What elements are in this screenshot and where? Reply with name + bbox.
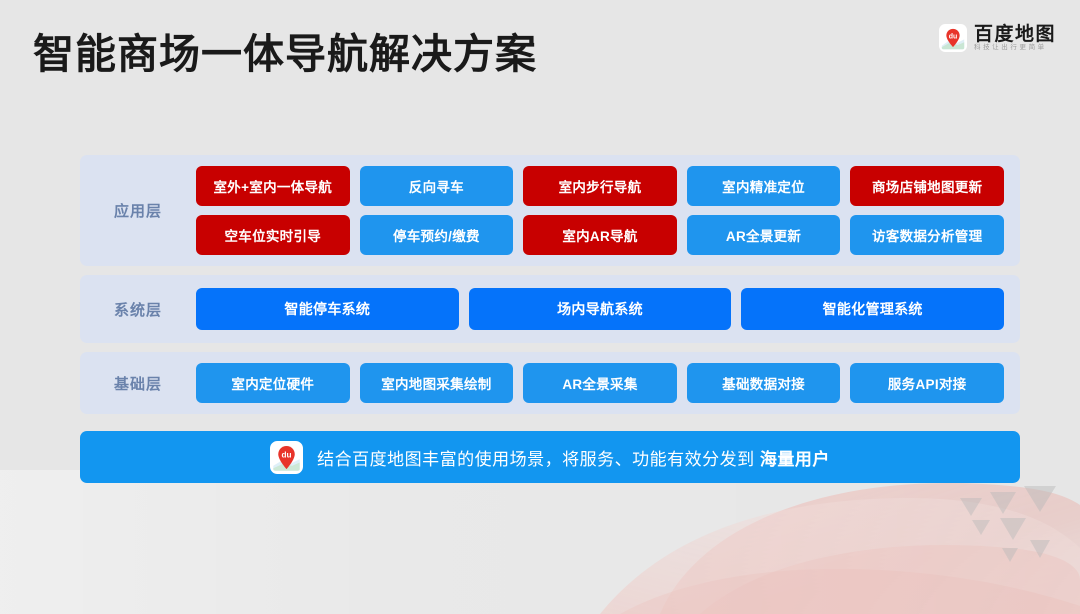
layer-panel-system: 系统层 智能停车系统 场内导航系统 智能化管理系统 [80, 275, 1020, 343]
baidu-map-pin-icon: du [939, 24, 967, 52]
page-header: 智能商场一体导航解决方案 du 百度地图 科技让出行更简单 [0, 0, 1080, 104]
capability-cell[interactable]: 停车预约/缴费 [360, 215, 514, 255]
capability-cell[interactable]: 室外+室内一体导航 [196, 166, 350, 206]
architecture-diagram: 应用层 室外+室内一体导航 反向寻车 室内步行导航 室内精准定位 商场店铺地图更… [80, 155, 1020, 423]
cell-row: 室内定位硬件 室内地图采集绘制 AR全景采集 基础数据对接 服务API对接 [196, 363, 1004, 403]
svg-text:du: du [949, 33, 958, 40]
baidu-map-app-icon: du [270, 441, 303, 474]
system-cell[interactable]: 场内导航系统 [469, 288, 732, 330]
capability-cell[interactable]: AR全景更新 [687, 215, 841, 255]
capability-cell[interactable]: 访客数据分析管理 [850, 215, 1004, 255]
system-cell[interactable]: 智能停车系统 [196, 288, 459, 330]
cell-row: 空车位实时引导 停车预约/缴费 室内AR导航 AR全景更新 访客数据分析管理 [196, 215, 1004, 255]
layer-label-system: 系统层 [80, 299, 196, 320]
foundation-cell[interactable]: 室内定位硬件 [196, 363, 350, 403]
value-proposition-banner: du 结合百度地图丰富的使用场景，将服务、功能有效分发到 海量用户 [80, 431, 1020, 483]
capability-cell[interactable]: 室内步行导航 [523, 166, 677, 206]
banner-text-normal: 结合百度地图丰富的使用场景，将服务、功能有效分发到 [317, 450, 760, 469]
layer-panel-application: 应用层 室外+室内一体导航 反向寻车 室内步行导航 室内精准定位 商场店铺地图更… [80, 155, 1020, 266]
capability-cell[interactable]: 商场店铺地图更新 [850, 166, 1004, 206]
capability-cell[interactable]: 空车位实时引导 [196, 215, 350, 255]
layer-label-application: 应用层 [80, 200, 196, 221]
brand-tagline: 科技让出行更简单 [974, 45, 1056, 52]
cell-row: 室外+室内一体导航 反向寻车 室内步行导航 室内精准定位 商场店铺地图更新 [196, 166, 1004, 206]
foundation-cell[interactable]: 基础数据对接 [687, 363, 841, 403]
svg-text:du: du [282, 450, 292, 459]
banner-text-highlight: 海量用户 [760, 450, 830, 469]
cell-row: 智能停车系统 场内导航系统 智能化管理系统 [196, 288, 1004, 330]
system-cell[interactable]: 智能化管理系统 [741, 288, 1004, 330]
capability-cell[interactable]: 室内AR导航 [523, 215, 677, 255]
layer-body-foundation: 室内定位硬件 室内地图采集绘制 AR全景采集 基础数据对接 服务API对接 [196, 352, 1020, 414]
banner-text: 结合百度地图丰富的使用场景，将服务、功能有效分发到 海量用户 [317, 445, 830, 470]
capability-cell[interactable]: 反向寻车 [360, 166, 514, 206]
foundation-cell[interactable]: 服务API对接 [850, 363, 1004, 403]
brand-logo: du 百度地图 科技让出行更简单 [939, 24, 1056, 52]
layer-panel-foundation: 基础层 室内定位硬件 室内地图采集绘制 AR全景采集 基础数据对接 服务API对… [80, 352, 1020, 414]
layer-label-foundation: 基础层 [80, 373, 196, 394]
page-title: 智能商场一体导航解决方案 [33, 20, 537, 80]
foundation-cell[interactable]: AR全景采集 [523, 363, 677, 403]
layer-body-system: 智能停车系统 场内导航系统 智能化管理系统 [196, 275, 1020, 343]
layer-body-application: 室外+室内一体导航 反向寻车 室内步行导航 室内精准定位 商场店铺地图更新 空车… [196, 155, 1020, 266]
capability-cell[interactable]: 室内精准定位 [687, 166, 841, 206]
brand-name: 百度地图 [974, 25, 1056, 44]
brand-text-group: 百度地图 科技让出行更简单 [974, 25, 1056, 52]
foundation-cell[interactable]: 室内地图采集绘制 [360, 363, 514, 403]
